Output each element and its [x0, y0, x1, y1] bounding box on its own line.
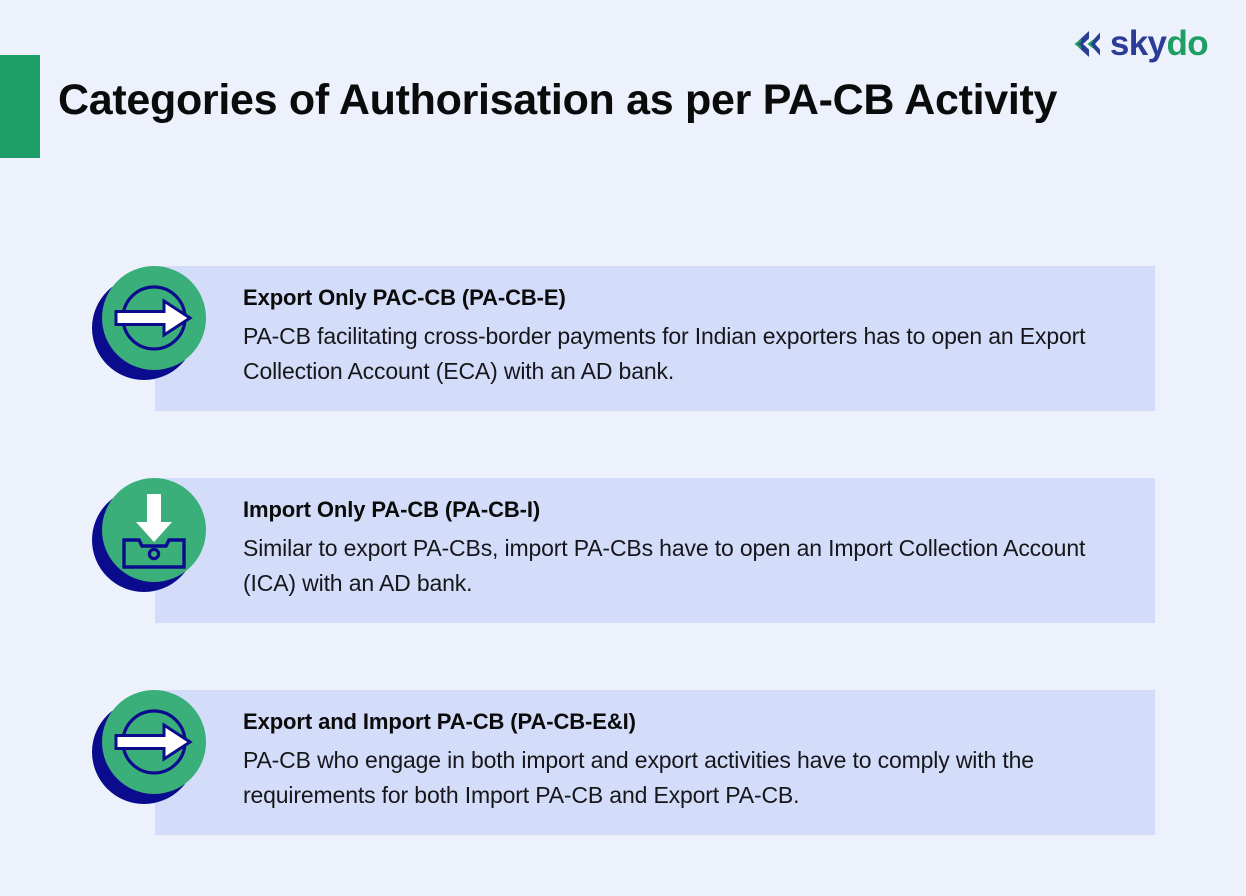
card-heading: Export Only PAC-CB (PA-CB-E)	[243, 284, 1143, 312]
page-title: Categories of Authorisation as per PA-CB…	[58, 74, 1118, 128]
category-card: Export Only PAC-CB (PA-CB-E) PA-CB facil…	[0, 266, 1246, 411]
brand-name-secondary: do	[1166, 24, 1208, 63]
brand-name-primary: sky	[1110, 24, 1167, 63]
skydo-double-chevron-icon	[1069, 29, 1101, 59]
card-icon	[88, 676, 220, 808]
arrow-right-circle-export-icon	[102, 266, 206, 370]
card-body: PA-CB facilitating cross-border payments…	[243, 319, 1143, 390]
card-heading: Import Only PA-CB (PA-CB-I)	[243, 496, 1143, 524]
card-text: Import Only PA-CB (PA-CB-I) Similar to e…	[243, 496, 1143, 602]
category-card: Export and Import PA-CB (PA-CB-E&I) PA-C…	[0, 690, 1246, 835]
card-body: Similar to export PA-CBs, import PA-CBs …	[243, 531, 1143, 602]
brand-wordmark: skydo	[1110, 26, 1208, 61]
arrow-right-circle-export-import-icon	[102, 690, 206, 794]
card-body: PA-CB who engage in both import and expo…	[243, 743, 1143, 814]
category-card-list: Export Only PAC-CB (PA-CB-E) PA-CB facil…	[0, 266, 1246, 835]
card-icon	[88, 252, 220, 384]
brand-logo: skydo	[1069, 26, 1208, 61]
title-accent-bar	[0, 55, 40, 158]
arrow-down-tray-import-icon	[102, 478, 206, 582]
card-heading: Export and Import PA-CB (PA-CB-E&I)	[243, 708, 1143, 736]
card-text: Export Only PAC-CB (PA-CB-E) PA-CB facil…	[243, 284, 1143, 390]
card-icon	[88, 464, 220, 596]
category-card: Import Only PA-CB (PA-CB-I) Similar to e…	[0, 478, 1246, 623]
card-text: Export and Import PA-CB (PA-CB-E&I) PA-C…	[243, 708, 1143, 814]
